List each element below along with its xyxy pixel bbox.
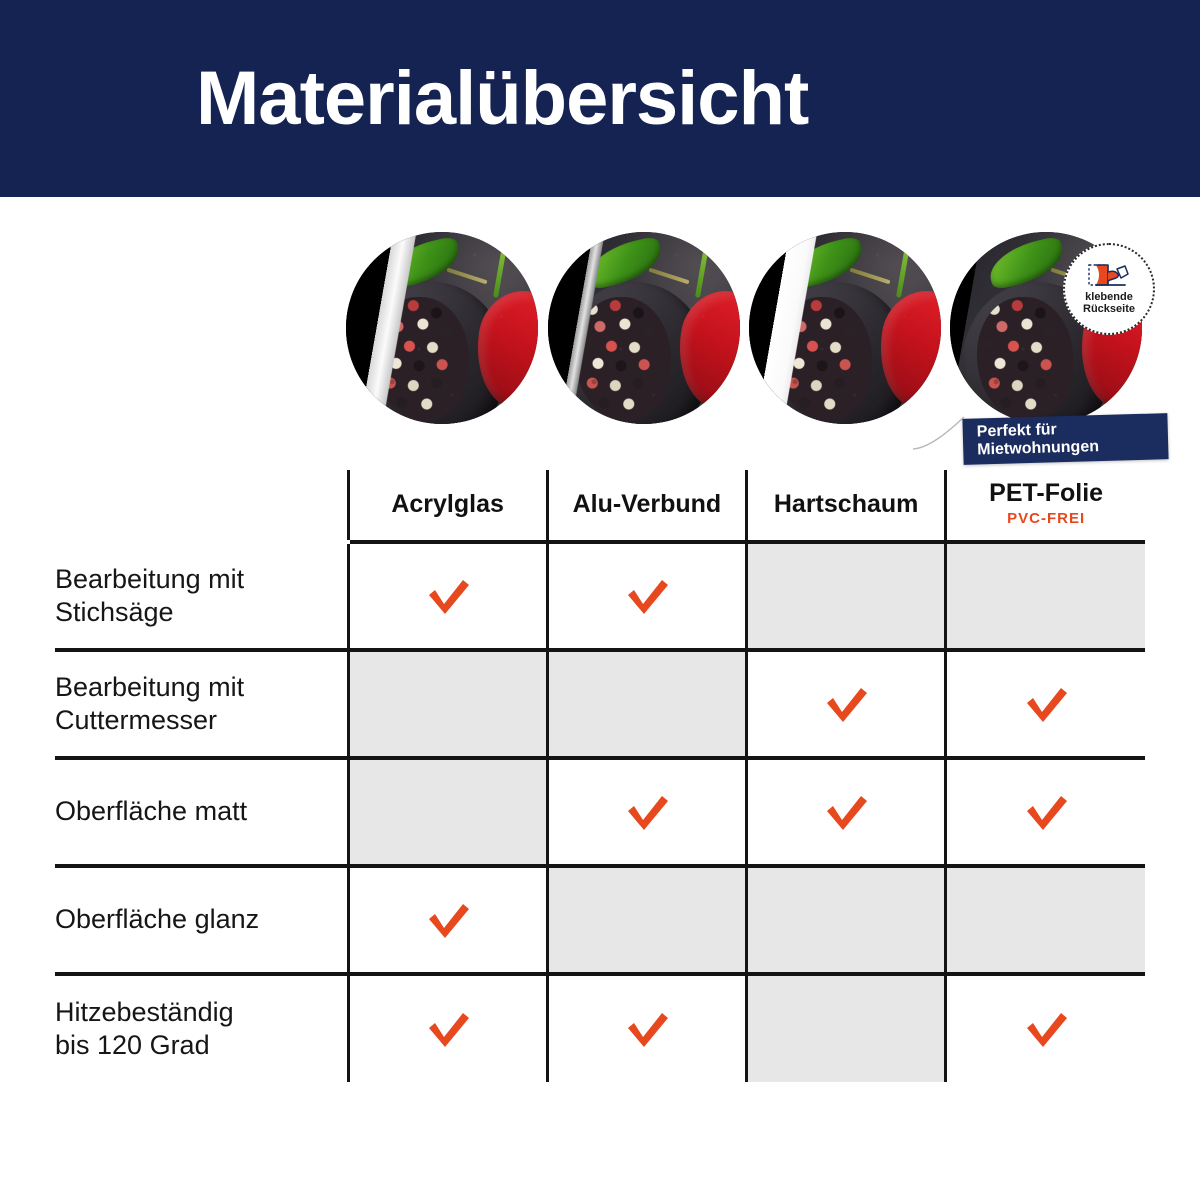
green-leaf-shape (985, 235, 1069, 291)
product-thumb-alu-verbund[interactable] (548, 232, 740, 424)
row-label-cell: Oberfläche glanz (55, 866, 348, 974)
cell-hartschaum-no (747, 542, 946, 650)
table-header-row: Acrylglas Alu-Verbund Hartschaum PET-Fol… (55, 470, 1145, 542)
col-header-name: Acrylglas (354, 491, 542, 519)
check-icon (624, 1009, 670, 1049)
material-comparison-table-wrap: Acrylglas Alu-Verbund Hartschaum PET-Fol… (0, 470, 1200, 1095)
col-header-name: Alu-Verbund (553, 491, 741, 519)
chili-stalk-shape (695, 240, 710, 298)
cell-hartschaum-no (747, 974, 946, 1082)
leaf-stem-shape (849, 268, 890, 285)
slate-bowl-shape (560, 282, 710, 424)
cell-acrylglas-yes (348, 542, 547, 650)
red-chili-shape (671, 285, 740, 414)
peppercorns-cluster (977, 297, 1073, 420)
cell-hartschaum-yes (747, 758, 946, 866)
page-title: Materialübersicht (196, 61, 808, 137)
material-overview-page: Materialübersicht (0, 0, 1200, 1200)
row-label: Bearbeitung mit Cuttermesser (55, 672, 244, 735)
table-row: Hitzebeständig bis 120 Grad (55, 974, 1145, 1082)
cell-hartschaum-no (747, 866, 946, 974)
red-chili-shape (872, 285, 941, 414)
cell-pet-folie-yes (946, 758, 1145, 866)
product-photo (749, 232, 941, 424)
table-body: Bearbeitung mit StichsägeBearbeitung mit… (55, 542, 1145, 1082)
col-header-badge-pvc-frei: PVC-FREI (951, 508, 1141, 531)
cell-alu-verbund-no (547, 866, 746, 974)
cell-hartschaum-yes (747, 650, 946, 758)
table-row: Bearbeitung mit Stichsäge (55, 542, 1145, 650)
cell-alu-verbund-yes (547, 974, 746, 1082)
row-label-cell: Hitzebeständig bis 120 Grad (55, 974, 348, 1082)
table-head: Acrylglas Alu-Verbund Hartschaum PET-Fol… (55, 470, 1145, 542)
cell-pet-folie-no (946, 542, 1145, 650)
table-col-header-pet-folie: PET-Folie PVC-FREI (946, 470, 1145, 542)
slate-bowl-shape (358, 282, 508, 424)
ribbon-label: Perfekt für Mietwohnungen (977, 418, 1169, 460)
row-label-cell: Oberfläche matt (55, 758, 348, 866)
cell-acrylglas-no (348, 650, 547, 758)
check-icon (1023, 1009, 1069, 1049)
table-row: Oberfläche glanz (55, 866, 1145, 974)
cell-acrylglas-yes (348, 974, 547, 1082)
green-leaf-shape (583, 235, 667, 291)
cell-pet-folie-no (946, 866, 1145, 974)
cell-alu-verbund-yes (547, 758, 746, 866)
adhesive-badge-label: klebende Rückseite (1083, 291, 1135, 316)
row-label: Bearbeitung mit Stichsäge (55, 564, 244, 627)
product-thumb-hartschaum[interactable] (749, 232, 941, 424)
col-header-name: Hartschaum (752, 491, 940, 519)
check-icon (624, 792, 670, 832)
product-thumbnail-row (0, 232, 1200, 432)
cell-alu-verbund-yes (547, 542, 746, 650)
chili-stalk-shape (493, 240, 508, 298)
cell-acrylglas-yes (348, 866, 547, 974)
check-icon (624, 576, 670, 616)
cell-pet-folie-yes (946, 974, 1145, 1082)
page-header: Materialübersicht (0, 0, 1200, 197)
row-label-cell: Bearbeitung mit Cuttermesser (55, 650, 348, 758)
check-icon (1023, 792, 1069, 832)
product-photo (346, 232, 538, 424)
slate-bowl-shape (761, 282, 911, 424)
peppercorns-cluster (776, 297, 872, 420)
col-header-name: PET-Folie (951, 480, 1141, 508)
cell-pet-folie-yes (946, 650, 1145, 758)
peel-backing-icon (1087, 263, 1131, 289)
check-icon (425, 576, 471, 616)
table-col-header-alu-verbund: Alu-Verbund (547, 470, 746, 542)
leaf-stem-shape (446, 268, 487, 285)
table-corner-cell (55, 470, 348, 542)
product-photo (548, 232, 740, 424)
row-label: Oberfläche matt (55, 796, 247, 826)
peppercorns-cluster (575, 297, 671, 420)
red-chili-shape (469, 285, 538, 414)
material-comparison-table: Acrylglas Alu-Verbund Hartschaum PET-Fol… (55, 470, 1145, 1082)
cell-alu-verbund-no (547, 650, 746, 758)
peppercorns-cluster (373, 297, 469, 420)
table-row: Oberfläche matt (55, 758, 1145, 866)
check-icon (1023, 684, 1069, 724)
row-label: Hitzebeständig bis 120 Grad (55, 997, 234, 1060)
adhesive-backing-badge: klebende Rückseite (1063, 243, 1155, 335)
rental-suitability-ribbon: Perfekt für Mietwohnungen (962, 413, 1168, 465)
green-leaf-shape (381, 235, 465, 291)
check-icon (823, 792, 869, 832)
chili-stalk-shape (896, 240, 911, 298)
check-icon (425, 1009, 471, 1049)
table-col-header-hartschaum: Hartschaum (747, 470, 946, 542)
table-col-header-acrylglas: Acrylglas (348, 470, 547, 542)
check-icon (823, 684, 869, 724)
cell-acrylglas-no (348, 758, 547, 866)
table-row: Bearbeitung mit Cuttermesser (55, 650, 1145, 758)
row-label: Oberfläche glanz (55, 904, 259, 934)
green-leaf-shape (784, 235, 868, 291)
product-thumb-acrylglas[interactable] (346, 232, 538, 424)
leaf-stem-shape (648, 268, 689, 285)
check-icon (425, 900, 471, 940)
row-label-cell: Bearbeitung mit Stichsäge (55, 542, 348, 650)
